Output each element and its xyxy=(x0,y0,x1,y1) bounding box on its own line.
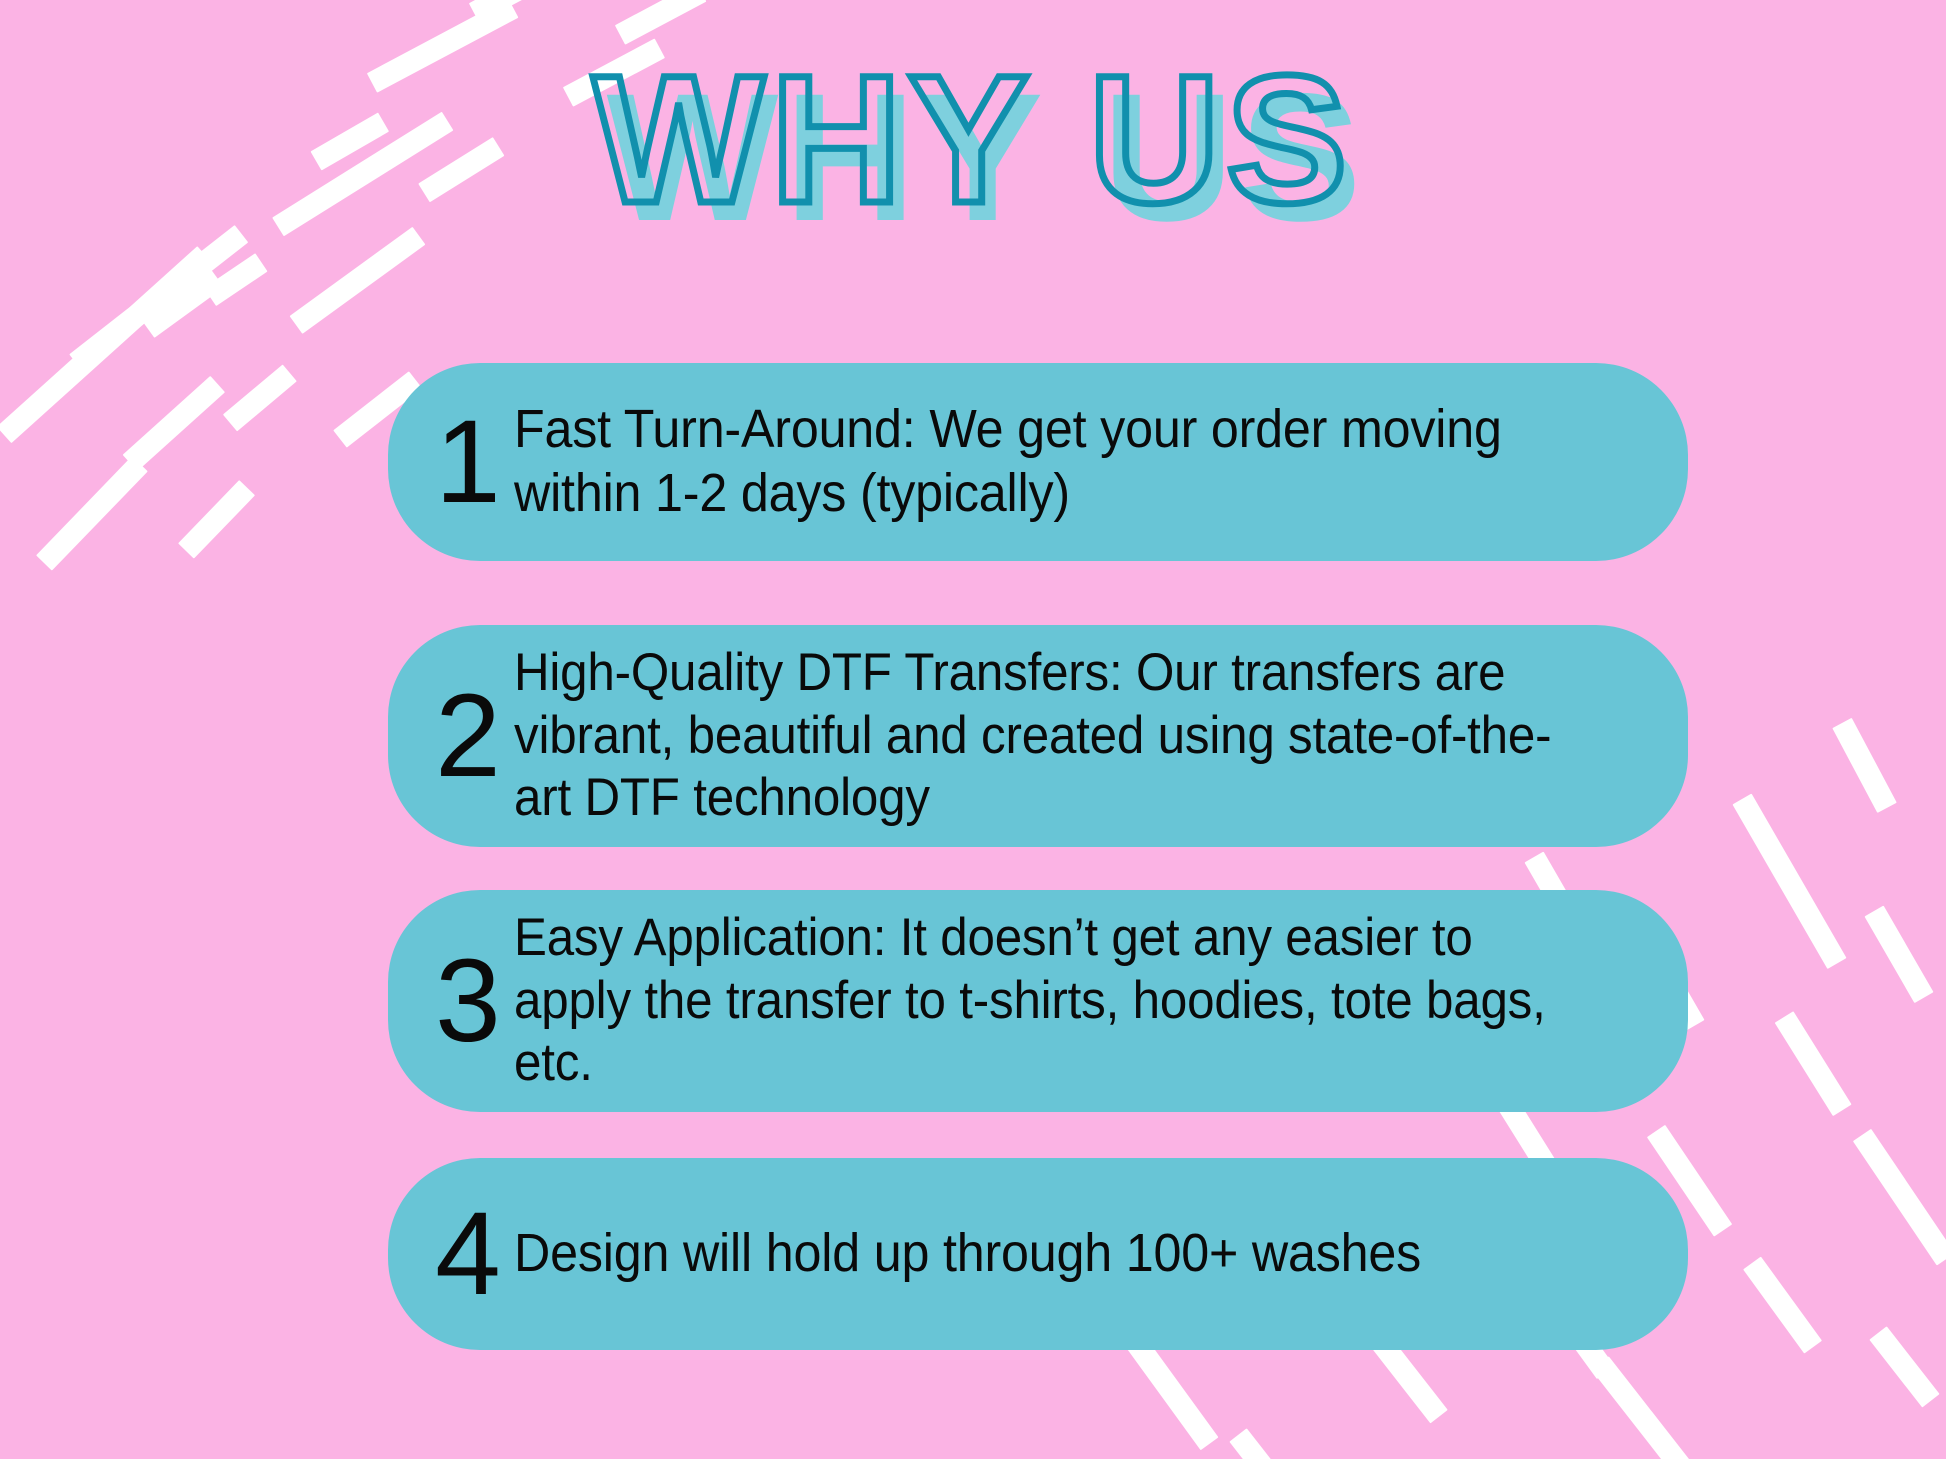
benefit-text-4: Design will hold up through 100+ washes xyxy=(514,1222,1569,1286)
why-us-poster: WHY US WHY US 1 Fast Turn-Around: We get… xyxy=(0,0,1946,1459)
stripe-26 xyxy=(1853,1129,1946,1266)
stripe-29 xyxy=(1743,1257,1822,1354)
benefit-number-3: 3 xyxy=(422,942,514,1060)
stripe-18 xyxy=(1832,718,1896,813)
stripe-8 xyxy=(204,253,268,306)
stripe-17 xyxy=(36,456,148,571)
page-title-text: WHY US xyxy=(0,48,1946,230)
page-title: WHY US WHY US xyxy=(0,48,1946,238)
benefit-number-1: 1 xyxy=(422,403,514,521)
stripe-16 xyxy=(178,480,255,559)
benefit-number-4: 4 xyxy=(422,1195,514,1313)
benefit-card-4: 4 Design will hold up through 100+ washe… xyxy=(388,1158,1688,1350)
stripe-12 xyxy=(223,364,297,431)
benefit-card-3: 3 Easy Application: It doesn’t get any e… xyxy=(388,890,1688,1112)
benefit-number-2: 2 xyxy=(422,677,514,795)
benefit-text-2: High-Quality DTF Transfers: Our transfer… xyxy=(514,642,1569,830)
stripe-21 xyxy=(1864,906,1933,1004)
stripe-33 xyxy=(1869,1326,1939,1407)
benefit-text-1: Fast Turn-Around: We get your order movi… xyxy=(514,398,1569,525)
benefit-card-1: 1 Fast Turn-Around: We get your order mo… xyxy=(388,363,1688,561)
benefit-card-2: 2 High-Quality DTF Transfers: Our transf… xyxy=(388,625,1688,847)
stripe-34 xyxy=(1229,1428,1302,1459)
benefit-text-3: Easy Application: It doesn’t get any eas… xyxy=(514,907,1569,1095)
stripe-32 xyxy=(1591,1356,1701,1459)
stripe-15 xyxy=(0,246,212,443)
stripe-23 xyxy=(1775,1011,1852,1116)
stripe-1 xyxy=(469,0,585,23)
stripe-14 xyxy=(123,376,225,471)
stripe-19 xyxy=(1732,794,1846,970)
stripe-10 xyxy=(142,270,225,338)
